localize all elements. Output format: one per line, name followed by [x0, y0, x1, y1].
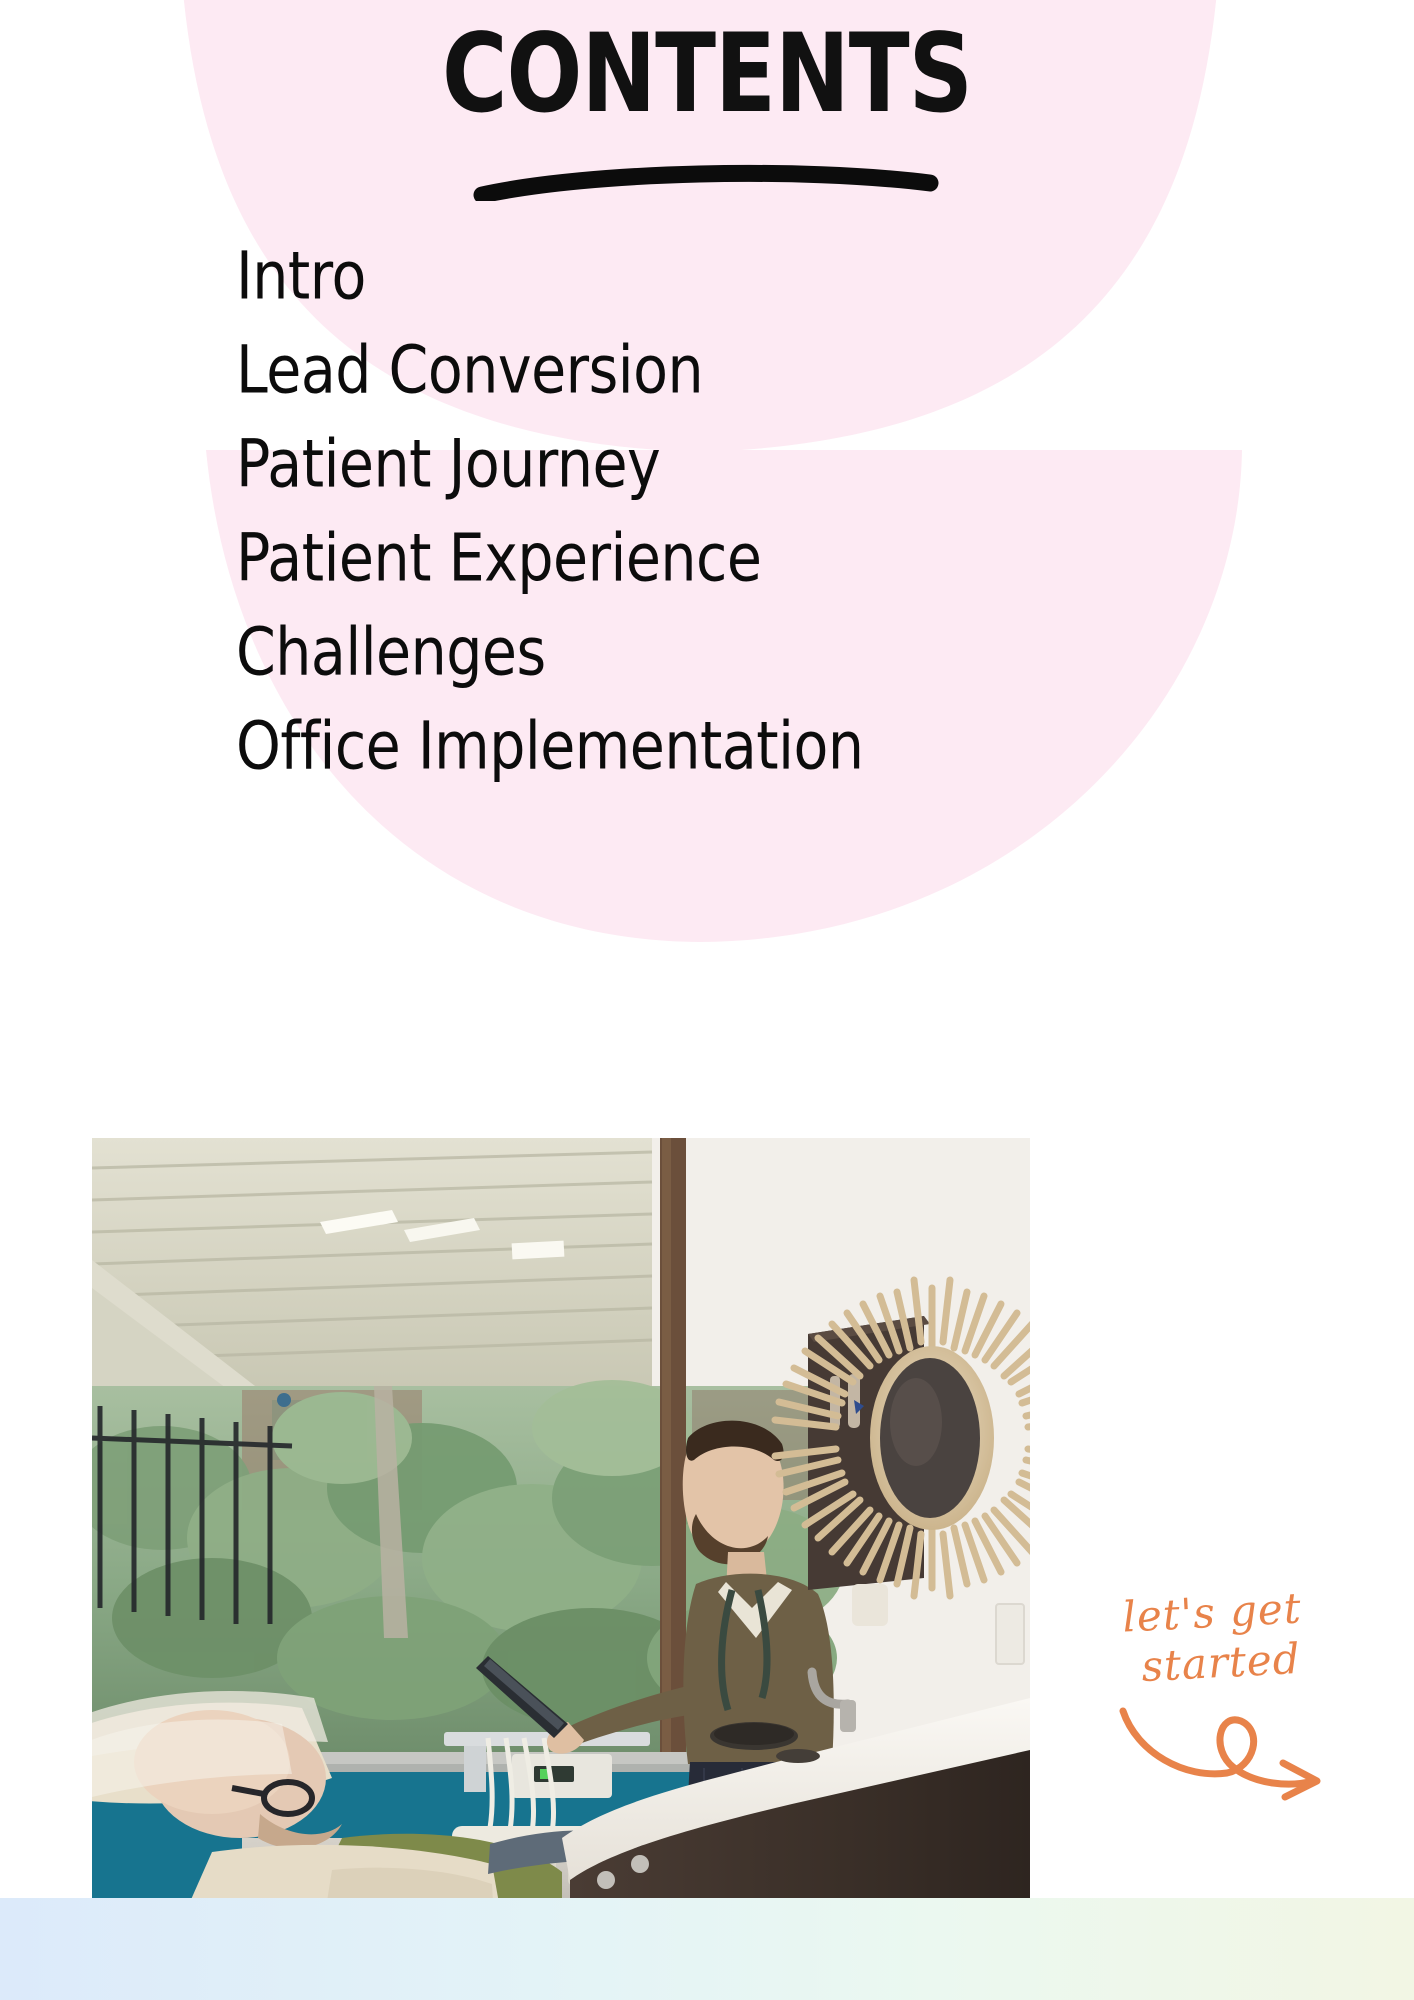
cta-block: let's get started: [1062, 1588, 1362, 1806]
dental-office-photo: [92, 1138, 1030, 1920]
page-title: CONTENTS: [21, 18, 1393, 132]
toc-item-lead-conversion[interactable]: Lead Conversion: [236, 338, 1236, 404]
cta-arrow: [1088, 1701, 1362, 1806]
toc-item-intro[interactable]: Intro: [236, 244, 1236, 310]
looping-curved-arrow-icon: [1123, 1711, 1317, 1797]
title-underline: [0, 161, 1414, 201]
bottom-gradient-band: [0, 1898, 1414, 2000]
toc-item-challenges[interactable]: Challenges: [236, 620, 1236, 686]
hand-drawn-underline-icon: [482, 173, 930, 195]
contents-list: Intro Lead Conversion Patient Journey Pa…: [236, 244, 1236, 808]
toc-item-office-implementation[interactable]: Office Implementation: [236, 714, 1236, 780]
contents-page: CONTENTS Intro Lead Conversion Patient J…: [0, 0, 1414, 2000]
toc-item-patient-experience[interactable]: Patient Experience: [236, 526, 1236, 592]
toc-item-patient-journey[interactable]: Patient Journey: [236, 432, 1236, 498]
page-title-block: CONTENTS: [0, 18, 1414, 201]
